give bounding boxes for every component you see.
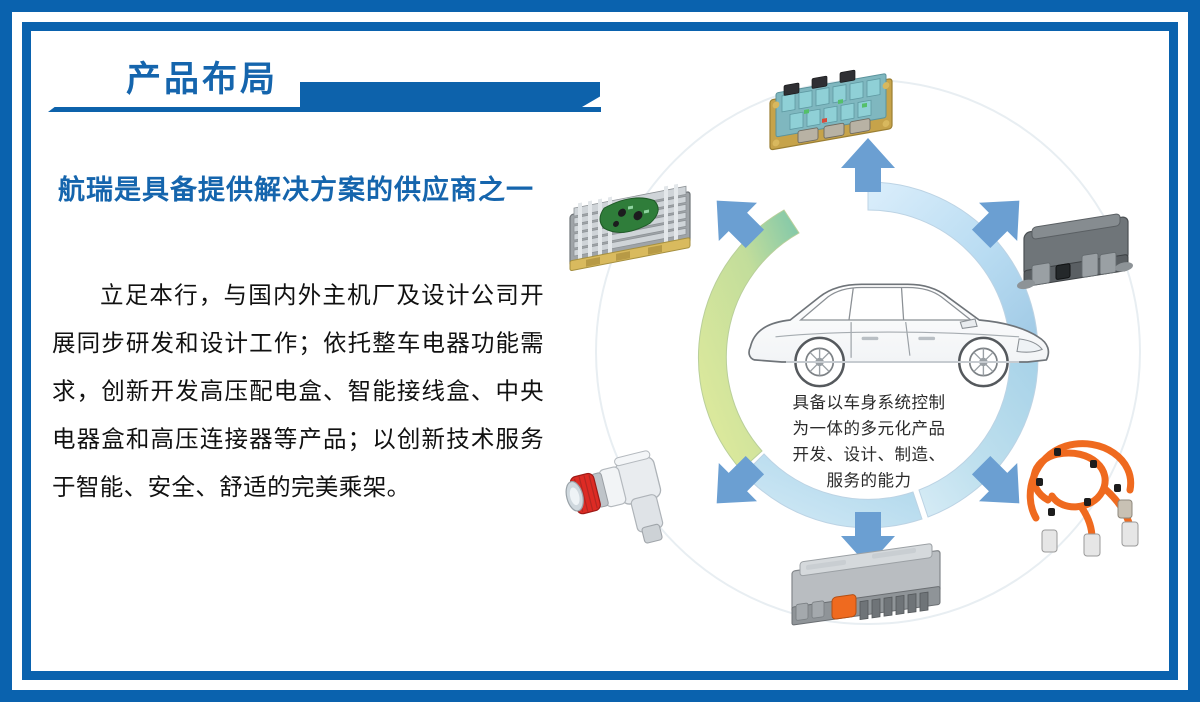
slide-root: 产品布局 航瑞是具备提供解决方案的供应商之一 立足本行，与国内外主机厂及设计公司… — [0, 0, 1200, 702]
diagram-center-caption: 具备以车身系统控制 为一体的多元化产品 开发、设计、制造、 服务的能力 — [744, 390, 994, 494]
body-paragraph: 立足本行，与国内外主机厂及设计公司开展同步研发和设计工作；依托整车电器功能需求，… — [52, 272, 544, 512]
product-relay-module-icon — [770, 63, 892, 150]
header-bar — [300, 82, 600, 107]
diagram-svg — [548, 40, 1188, 670]
caption-line-1: 具备以车身系统控制 — [744, 390, 994, 416]
lead-statement: 航瑞是具备提供解决方案的供应商之一 — [58, 168, 578, 207]
section-header: 产品布局 — [48, 62, 608, 118]
product-junction-box-icon — [1017, 211, 1133, 290]
product-layout-diagram: 具备以车身系统控制 为一体的多元化产品 开发、设计、制造、 服务的能力 — [548, 40, 1188, 670]
product-hv-connector-icon — [560, 450, 672, 560]
product-hv-distribution-box-icon — [792, 542, 940, 629]
header-underline — [48, 107, 601, 112]
caption-line-3: 开发、设计、制造、 — [744, 442, 994, 468]
product-heatsink-controller-icon — [570, 182, 690, 271]
page-title: 产品布局 — [126, 58, 278, 102]
caption-line-2: 为一体的多元化产品 — [744, 416, 994, 442]
caption-line-4: 服务的能力 — [744, 468, 994, 494]
product-hv-cable-harness-icon — [1030, 444, 1138, 556]
